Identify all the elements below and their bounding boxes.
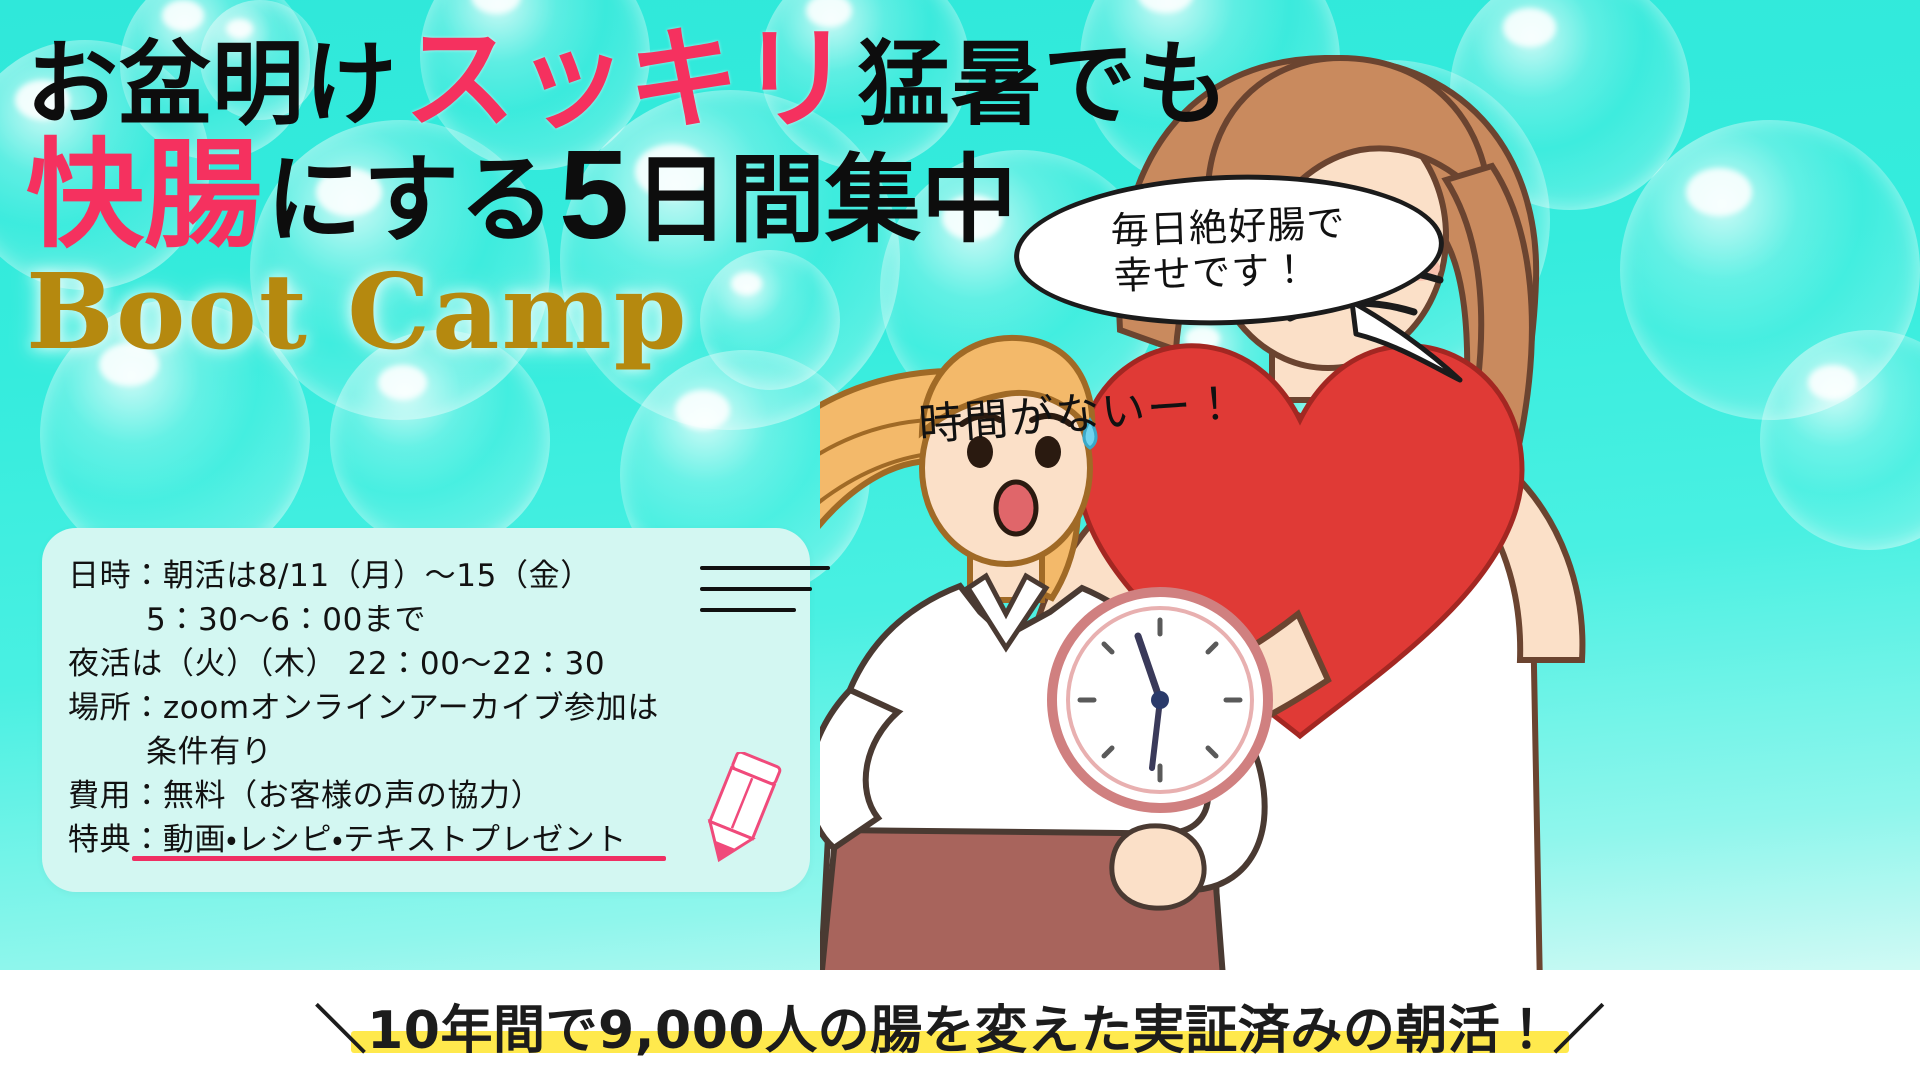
- bottom-banner-message: 10年間で9,000人の腸を変えた実証済みの朝活！: [367, 1001, 1553, 1061]
- headline-line1-highlight: スッキリ: [398, 26, 858, 134]
- slash-left: ＼: [315, 1001, 368, 1061]
- headline-bootcamp: Boot Camp: [26, 257, 1146, 367]
- headline-line1-part1: お盆明け: [26, 36, 398, 134]
- headline-block: お盆明け スッキリ 猛暑でも 快腸 にする 5 日間集中 Boot Camp: [26, 26, 1146, 367]
- info-line: 日時：朝活は8/11（月）〜15（金）: [68, 554, 788, 598]
- headline-line-2: 快腸 にする 5 日間集中: [26, 138, 1146, 251]
- bottom-banner-text: ＼10年間で9,000人の腸を変えた実証済みの朝活！／: [315, 988, 1606, 1063]
- headline-line2-part3: 日間集中: [633, 151, 1017, 251]
- marker-pen-icon: [680, 752, 800, 870]
- speech-bubble-tail-icon: [1348, 296, 1468, 386]
- headline-line-1: お盆明け スッキリ 猛暑でも: [26, 26, 1146, 134]
- speech-bubble-happy-line2: 幸せです！: [1113, 247, 1310, 299]
- clock-icon: [1052, 592, 1268, 808]
- bottom-banner: ＼10年間で9,000人の腸を変えた実証済みの朝活！／: [0, 970, 1920, 1080]
- slash-right: ／: [1553, 1001, 1606, 1061]
- speech-bubble-happy-line1: 毎日絶好腸で: [1110, 201, 1346, 254]
- info-line: 5：30〜6：00まで: [68, 598, 788, 642]
- promo-banner: お盆明け スッキリ 猛暑でも 快腸 にする 5 日間集中 Boot Camp 日…: [0, 0, 1920, 1080]
- headline-line1-part3: 猛暑でも: [858, 36, 1230, 134]
- decorative-lines: [700, 566, 830, 629]
- info-line: 場所：zoomオンラインアーカイブ参加は: [68, 686, 788, 730]
- headline-line2-part2: にする: [266, 151, 555, 251]
- headline-line2-highlight: 快腸: [26, 140, 266, 251]
- headline-days-number: 5: [555, 138, 633, 251]
- info-line: 夜活は（火）（木） 22：00〜22：30: [68, 642, 788, 686]
- benefits-underline: [132, 856, 666, 861]
